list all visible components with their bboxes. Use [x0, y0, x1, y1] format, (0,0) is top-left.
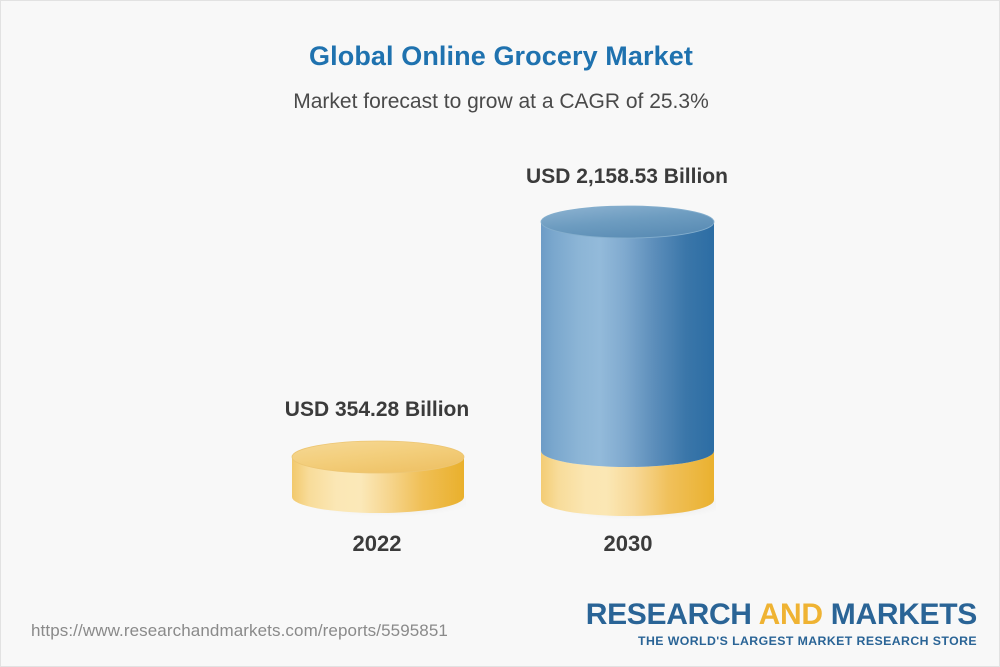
value-label-2030: USD 2,158.53 Billion — [507, 165, 747, 189]
bar-cylinder-2022 — [290, 439, 466, 519]
category-label-2030: 2030 — [538, 531, 718, 557]
brand-word-and: AND — [759, 598, 823, 631]
brand-tagline: THE WORLD'S LARGEST MARKET RESEARCH STOR… — [586, 634, 977, 648]
infographic-page: Global Online Grocery Market Market fore… — [0, 0, 1000, 667]
brand-wordmark: RESEARCH AND MARKETS — [586, 599, 977, 631]
chart-plot-area: USD 2,158.53 Billion USD 354.28 Billion — [1, 1, 1000, 601]
bar-cylinder-2030 — [539, 204, 716, 519]
source-url-text[interactable]: https://www.researchandmarkets.com/repor… — [31, 621, 448, 641]
brand-word-research: RESEARCH — [586, 598, 752, 631]
category-label-2022: 2022 — [287, 531, 467, 557]
brand-word-markets: MARKETS — [831, 598, 977, 631]
cylinder-body-blue-2030 — [541, 222, 714, 467]
value-label-2022: USD 354.28 Billion — [257, 398, 497, 422]
brand-logo: RESEARCH AND MARKETS THE WORLD'S LARGEST… — [586, 599, 977, 648]
